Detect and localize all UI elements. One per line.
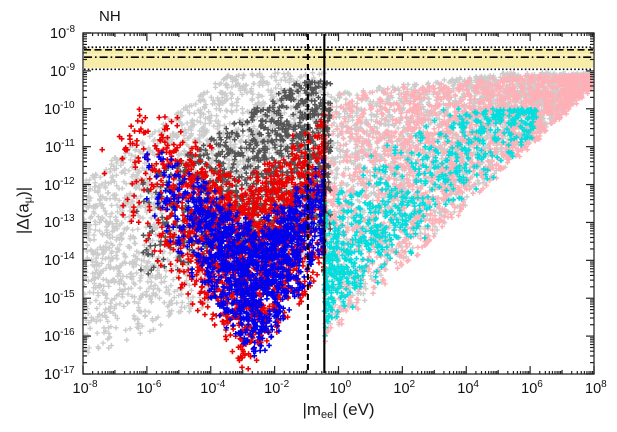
x-tick-label: 10-8: [73, 379, 98, 397]
y-axis-title: |Δ(aμ)|: [14, 21, 35, 401]
x-tick-label: 106: [521, 379, 543, 397]
pink-points: [322, 72, 595, 344]
y-tick-label: 10-14: [44, 251, 75, 269]
y-tick-label: 10-11: [45, 138, 75, 156]
y-tick-label: 10-8: [50, 24, 75, 42]
x-tick-label: 10-6: [136, 379, 161, 397]
x-tick-label: 10-4: [200, 379, 225, 397]
figure-panel: NH |mee| (eV) |Δ(aμ)| 10-810-610-410-210…: [0, 0, 617, 432]
x-axis-title: |mee| (eV): [0, 400, 617, 421]
y-tick-label: 10-17: [44, 365, 75, 383]
scatter-plot: [0, 0, 617, 432]
y-tick-label: 10-12: [44, 176, 75, 194]
y-tick-label: 10-16: [44, 327, 75, 345]
y-tick-label: 10-13: [44, 213, 75, 231]
y-tick-label: 10-15: [44, 289, 75, 307]
y-tick-label: 10-10: [44, 100, 75, 118]
x-tick-label: 10-2: [264, 379, 289, 397]
x-tick-label: 108: [585, 379, 607, 397]
x-tick-label: 102: [393, 379, 415, 397]
x-tick-label: 100: [330, 379, 352, 397]
x-tick-label: 104: [457, 379, 479, 397]
y-tick-label: 10-9: [50, 62, 75, 80]
